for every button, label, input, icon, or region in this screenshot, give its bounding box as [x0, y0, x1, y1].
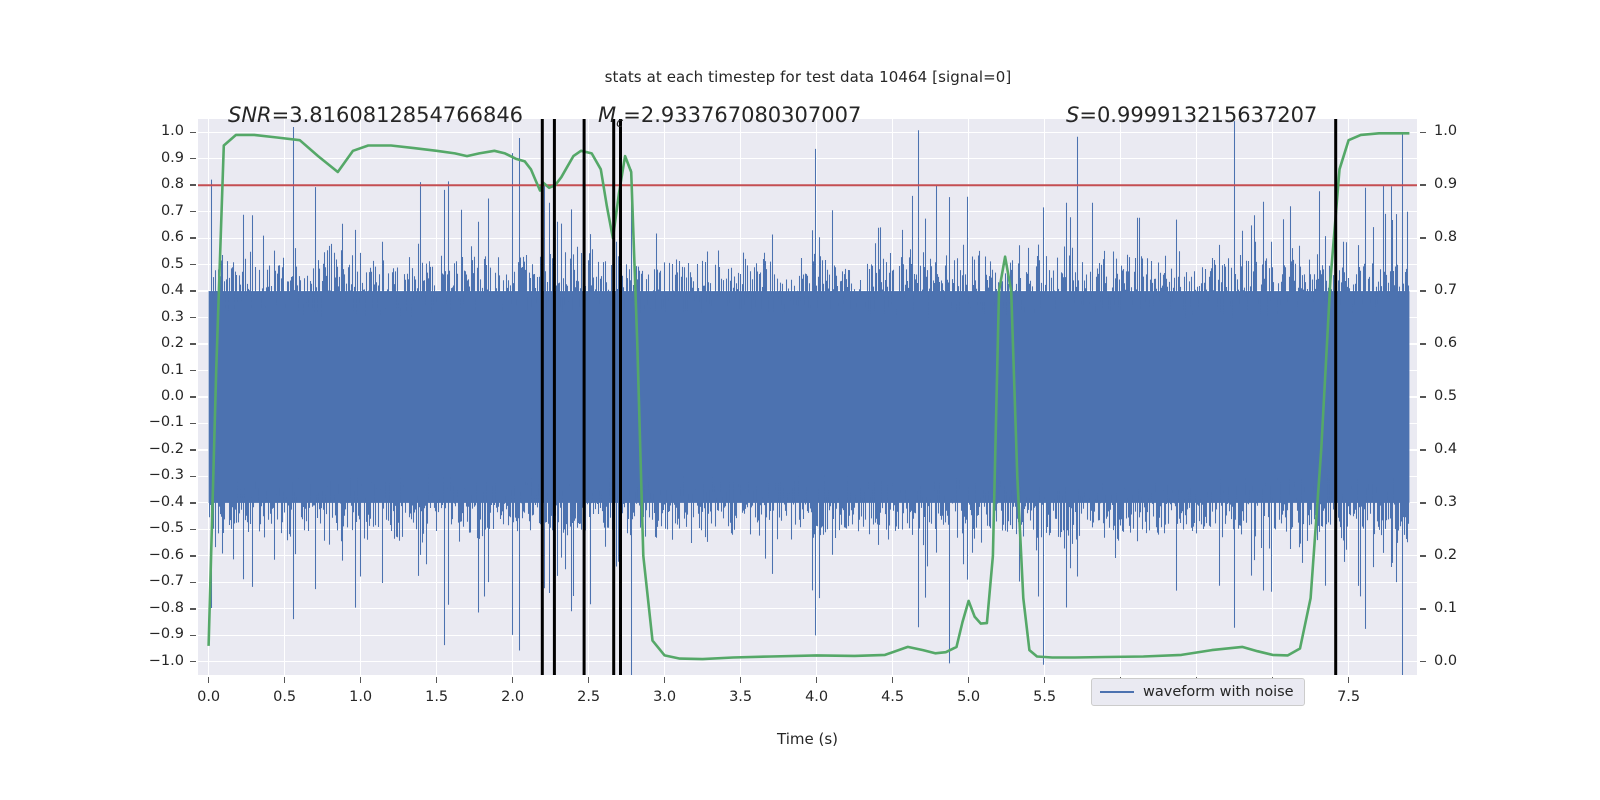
x-tick-mark [1044, 677, 1045, 683]
x-tick-mark [512, 677, 513, 683]
y-tick-label-left: 0.5 [140, 256, 184, 272]
x-tick-mark [360, 677, 361, 683]
x-tick-label: 2.0 [483, 689, 543, 705]
y-tick-mark-left [190, 449, 196, 450]
y-tick-mark-right [1420, 608, 1426, 609]
y-tick-mark-left [190, 529, 196, 530]
y-tick-mark-right [1420, 290, 1426, 291]
y-tick-label-right: 0.4 [1434, 441, 1484, 457]
plot-area[interactable] [198, 119, 1417, 675]
plot-canvas [198, 119, 1417, 675]
legend-swatch-waveform [1100, 691, 1134, 693]
annotation-value: =0.999913215637207 [1079, 103, 1317, 127]
y-tick-label-left: −0.5 [140, 520, 184, 536]
y-tick-label-left: −0.2 [140, 441, 184, 457]
y-tick-label-left: −0.4 [140, 494, 184, 510]
y-tick-mark-left [190, 264, 196, 265]
y-tick-mark-left [190, 502, 196, 503]
waveform-path [210, 121, 1409, 675]
legend[interactable]: waveform with noise [1091, 678, 1305, 706]
y-tick-label-left: 0.4 [140, 282, 184, 298]
y-tick-label-left: −0.9 [140, 626, 184, 642]
x-tick-label: 3.0 [635, 689, 695, 705]
y-tick-mark-right [1420, 449, 1426, 450]
y-tick-label-left: 0.7 [140, 203, 184, 219]
y-tick-mark-left [190, 635, 196, 636]
y-tick-mark-right [1420, 132, 1426, 133]
x-tick-label: 3.5 [711, 689, 771, 705]
y-tick-mark-left [190, 423, 196, 424]
annotation-value: =2.933767080307007 [623, 103, 861, 127]
x-tick-label: 4.0 [787, 689, 847, 705]
y-tick-label-right: 0.5 [1434, 388, 1484, 404]
x-axis-label: Time (s) [198, 730, 1417, 748]
y-tick-label-right: 0.7 [1434, 282, 1484, 298]
y-tick-mark-left [190, 158, 196, 159]
y-tick-mark-left [190, 661, 196, 662]
y-tick-label-left: 0.2 [140, 335, 184, 351]
x-tick-label: 0.0 [179, 689, 239, 705]
annotation-value: =3.8160812854766846 [272, 103, 523, 127]
annotation-score: S=0.999913215637207 [1066, 103, 1317, 127]
annotation-snr: SNR=3.8160812854766846 [228, 103, 523, 127]
y-tick-label-left: 0.1 [140, 362, 184, 378]
annotation-symbol: S [1066, 103, 1079, 127]
y-tick-mark-left [190, 317, 196, 318]
y-tick-label-right: 0.6 [1434, 335, 1484, 351]
y-tick-label-left: 0.3 [140, 309, 184, 325]
y-tick-label-right: 1.0 [1434, 123, 1484, 139]
y-tick-label-right: 0.3 [1434, 494, 1484, 510]
figure: stats at each timestep for test data 104… [0, 0, 1600, 800]
x-tick-mark [208, 677, 209, 683]
y-tick-label-right: 0.1 [1434, 600, 1484, 616]
x-tick-mark [664, 677, 665, 683]
y-tick-label-left: −0.1 [140, 414, 184, 430]
y-tick-label-right: 0.8 [1434, 229, 1484, 245]
x-tick-label: 1.0 [331, 689, 391, 705]
y-tick-mark-right [1420, 396, 1426, 397]
y-tick-label-left: 0.9 [140, 150, 184, 166]
y-tick-label-left: −0.8 [140, 600, 184, 616]
x-tick-mark [436, 677, 437, 683]
x-tick-label: 0.5 [255, 689, 315, 705]
y-tick-mark-right [1420, 237, 1426, 238]
y-tick-mark-left [190, 184, 196, 185]
x-tick-mark [1348, 677, 1349, 683]
y-tick-mark-right [1420, 502, 1426, 503]
x-tick-mark [816, 677, 817, 683]
x-tick-mark [968, 677, 969, 683]
y-tick-label-left: −0.3 [140, 467, 184, 483]
y-tick-label-right: 0.9 [1434, 176, 1484, 192]
y-tick-mark-left [190, 476, 196, 477]
y-tick-mark-left [190, 211, 196, 212]
x-tick-label: 4.5 [863, 689, 923, 705]
y-tick-label-left: 0.8 [140, 176, 184, 192]
y-tick-mark-left [190, 608, 196, 609]
x-tick-label: 5.0 [939, 689, 999, 705]
annotation-chirp-mass: Mc=2.933767080307007 [598, 103, 861, 131]
y-tick-mark-right [1420, 555, 1426, 556]
y-tick-label-left: 1.0 [140, 123, 184, 139]
y-tick-label-left: −0.6 [140, 547, 184, 563]
y-tick-mark-left [190, 290, 196, 291]
y-tick-label-left: 0.0 [140, 388, 184, 404]
y-tick-mark-left [190, 237, 196, 238]
y-tick-label-left: 0.6 [140, 229, 184, 245]
x-tick-mark [588, 677, 589, 683]
y-tick-label-left: −0.7 [140, 573, 184, 589]
y-tick-mark-left [190, 370, 196, 371]
legend-label-waveform: waveform with noise [1143, 684, 1294, 700]
x-tick-label: 1.5 [407, 689, 467, 705]
y-tick-mark-right [1420, 184, 1426, 185]
y-tick-mark-left [190, 132, 196, 133]
y-tick-mark-right [1420, 661, 1426, 662]
y-tick-mark-left [190, 396, 196, 397]
y-tick-mark-left [190, 343, 196, 344]
y-tick-mark-left [190, 582, 196, 583]
x-tick-mark [892, 677, 893, 683]
annotation-symbol: M [598, 103, 616, 127]
x-tick-mark [284, 677, 285, 683]
x-tick-label: 2.5 [559, 689, 619, 705]
y-tick-mark-left [190, 555, 196, 556]
x-tick-mark [740, 677, 741, 683]
chart-title: stats at each timestep for test data 104… [198, 68, 1418, 86]
y-tick-label-right: 0.0 [1434, 653, 1484, 669]
x-tick-label: 7.5 [1319, 689, 1379, 705]
y-tick-label-right: 0.2 [1434, 547, 1484, 563]
annotation-symbol: SNR [228, 103, 272, 127]
x-tick-label: 5.5 [1015, 689, 1075, 705]
y-tick-label-left: −1.0 [140, 653, 184, 669]
waveform-series [209, 121, 1410, 675]
y-tick-mark-right [1420, 343, 1426, 344]
